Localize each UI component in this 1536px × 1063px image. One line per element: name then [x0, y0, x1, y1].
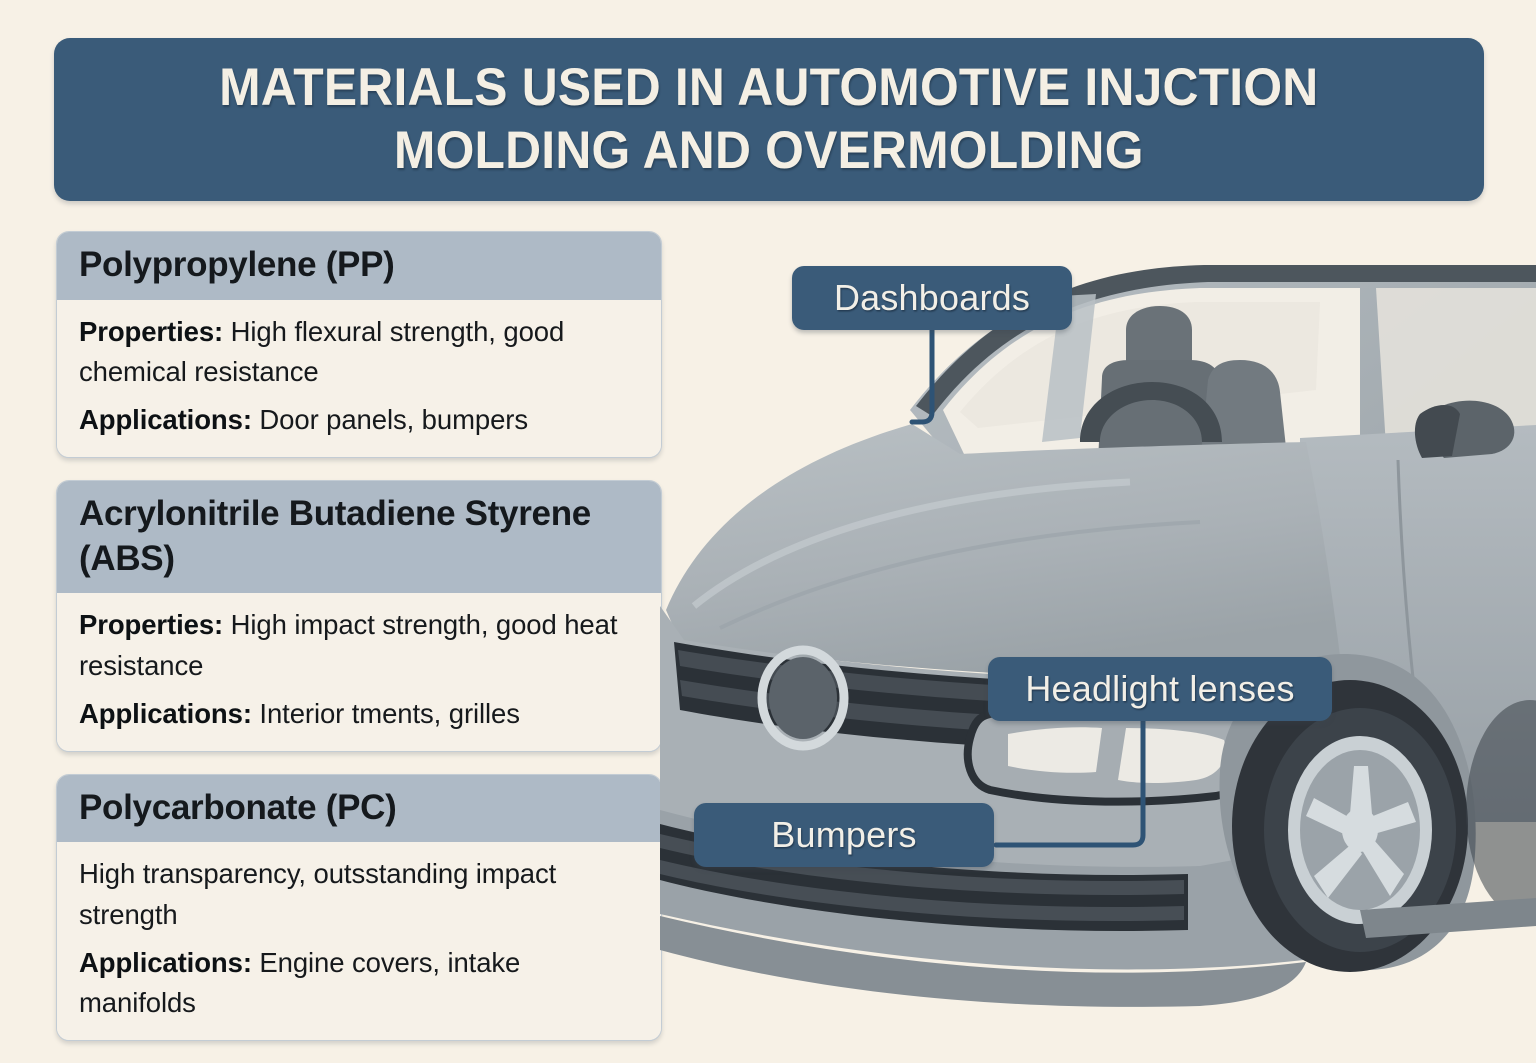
material-name: Acrylonitrile Butadiene Styrene (ABS) [79, 492, 639, 582]
applications-label: Applications: [79, 404, 252, 435]
properties-label: Properties: [79, 609, 223, 640]
material-properties-line: Properties: High impact strength, good h… [79, 605, 639, 686]
material-card-body: Properties: High impact strength, good h… [57, 593, 661, 750]
page-title-banner: MATERIALS USED IN AUTOMOTIVE INJCTION MO… [54, 38, 1484, 201]
material-card-pp: Polypropylene (PP) Properties: High flex… [56, 231, 662, 458]
material-card-header: Polycarbonate (PC) [57, 775, 661, 843]
material-cards-column: Polypropylene (PP) Properties: High flex… [56, 231, 662, 1063]
car-headlight-lens-inner [1008, 727, 1102, 773]
material-applications-line: Applications: Interior tments, grilles [79, 694, 639, 735]
material-card-pc: Polycarbonate (PC) High transparency, ou… [56, 774, 662, 1042]
page-title: MATERIALS USED IN AUTOMOTIVE INJCTION MO… [219, 57, 1318, 182]
car-hood [666, 424, 1340, 680]
material-applications-line: Applications: Engine covers, intake mani… [79, 943, 639, 1024]
car-illustration-svg [660, 210, 1536, 1024]
callout-bumpers[interactable]: Bumpers [694, 803, 994, 867]
properties-label: Properties: [79, 316, 223, 347]
car-headlight-lens-outer [1118, 728, 1226, 783]
applications-value: Door panels, bumpers [252, 404, 528, 435]
material-name: Polycarbonate (PC) [79, 786, 639, 831]
material-card-header: Acrylonitrile Butadiene Styrene (ABS) [57, 481, 661, 594]
callout-headlight-lenses[interactable]: Headlight lenses [988, 657, 1332, 721]
material-properties-line: Properties: High flexural strength, good… [79, 312, 639, 393]
material-card-body: Properties: High flexural strength, good… [57, 300, 661, 457]
material-card-body: High transparency, outsstanding impact s… [57, 842, 661, 1040]
material-properties-line: High transparency, outsstanding impact s… [79, 854, 639, 935]
infographic-canvas: MATERIALS USED IN AUTOMOTIVE INJCTION MO… [0, 0, 1536, 1024]
car-emblem-center [769, 657, 837, 739]
applications-label: Applications: [79, 698, 252, 729]
callout-label: Headlight lenses [1025, 668, 1294, 710]
material-card-abs: Acrylonitrile Butadiene Styrene (ABS) Pr… [56, 480, 662, 752]
callout-label: Bumpers [771, 814, 916, 856]
car-illustration [660, 210, 1536, 1024]
callout-label: Dashboards [834, 277, 1030, 319]
applications-label: Applications: [79, 947, 252, 978]
material-applications-line: Applications: Door panels, bumpers [79, 400, 639, 441]
material-name: Polypropylene (PP) [79, 243, 639, 288]
applications-value: Interior tments, grilles [252, 698, 520, 729]
properties-value: High transparency, outsstanding impact s… [79, 858, 556, 930]
material-card-header: Polypropylene (PP) [57, 232, 661, 300]
callout-dashboards[interactable]: Dashboards [792, 266, 1072, 330]
